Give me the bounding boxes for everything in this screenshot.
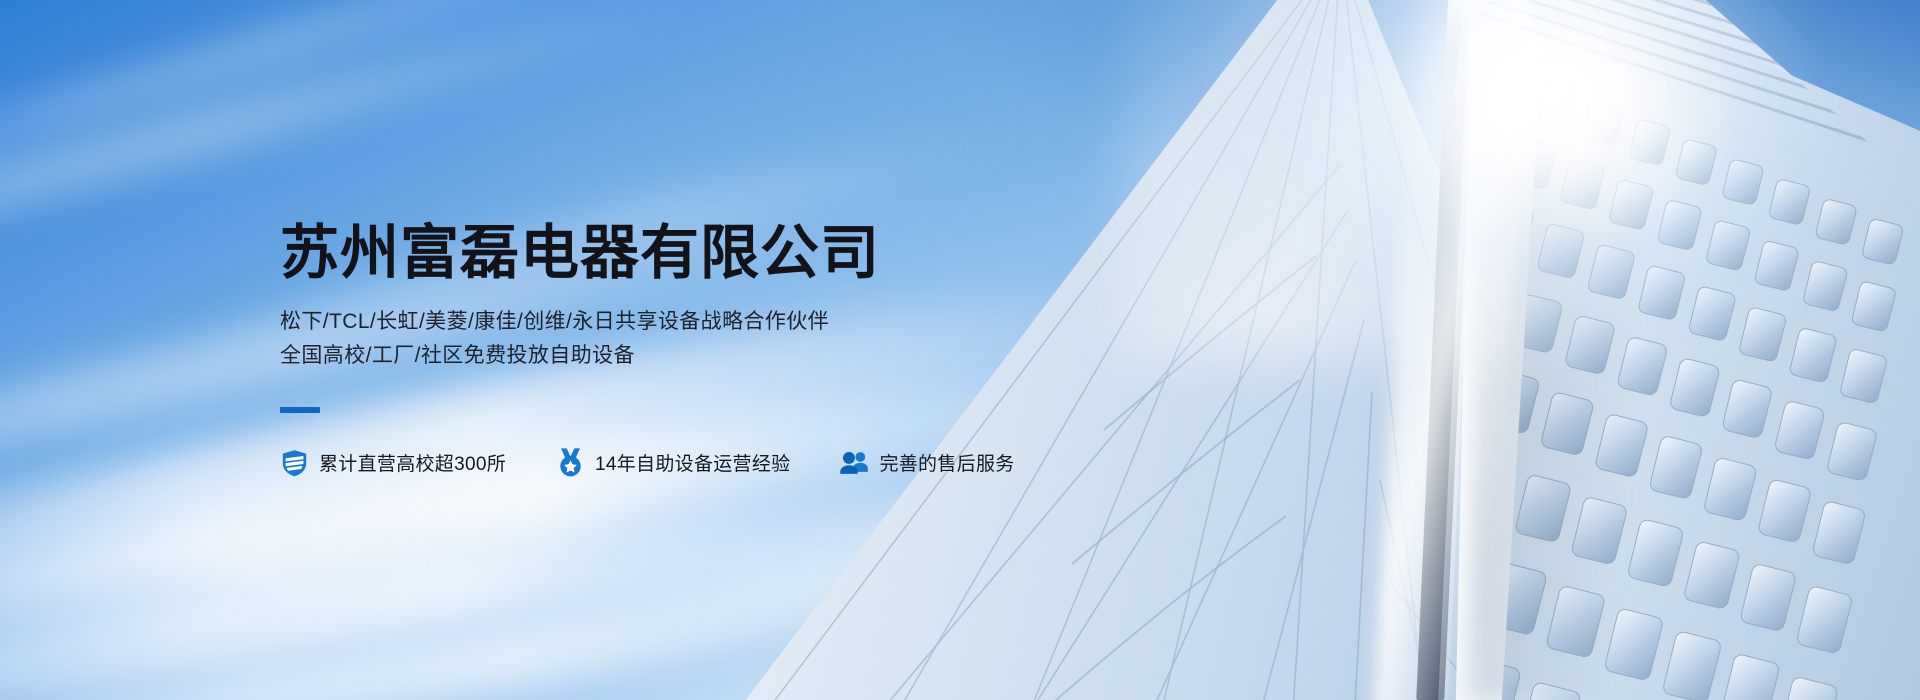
shield-icon — [280, 449, 308, 477]
feature-label: 14年自助设备运营经验 — [595, 449, 790, 476]
feature-item: 14年自助设备运营经验 — [556, 449, 790, 477]
feature-item: 完善的售后服务 — [840, 449, 1014, 477]
people-icon — [840, 449, 868, 477]
feature-list: 累计直营高校超300所 14年自助设备运营经验 — [280, 449, 1015, 477]
subtitle-line-coverage: 全国高校/工厂/社区免费投放自助设备 — [280, 339, 1015, 373]
subtitle-line-partners: 松下/TCL/长虹/美菱/康佳/创维/永日共享设备战略合作伙伴 — [280, 305, 1015, 339]
accent-divider — [280, 407, 320, 413]
feature-label: 完善的售后服务 — [879, 449, 1014, 476]
feature-item: 累计直营高校超300所 — [280, 449, 506, 477]
hero-banner: 苏州富磊电器有限公司 松下/TCL/长虹/美菱/康佳/创维/永日共享设备战略合作… — [0, 0, 1920, 700]
feature-label: 累计直营高校超300所 — [319, 449, 506, 476]
page-title: 苏州富磊电器有限公司 — [280, 223, 1015, 285]
banner-content: 苏州富磊电器有限公司 松下/TCL/长虹/美菱/康佳/创维/永日共享设备战略合作… — [280, 0, 1015, 700]
medal-icon — [556, 449, 584, 477]
